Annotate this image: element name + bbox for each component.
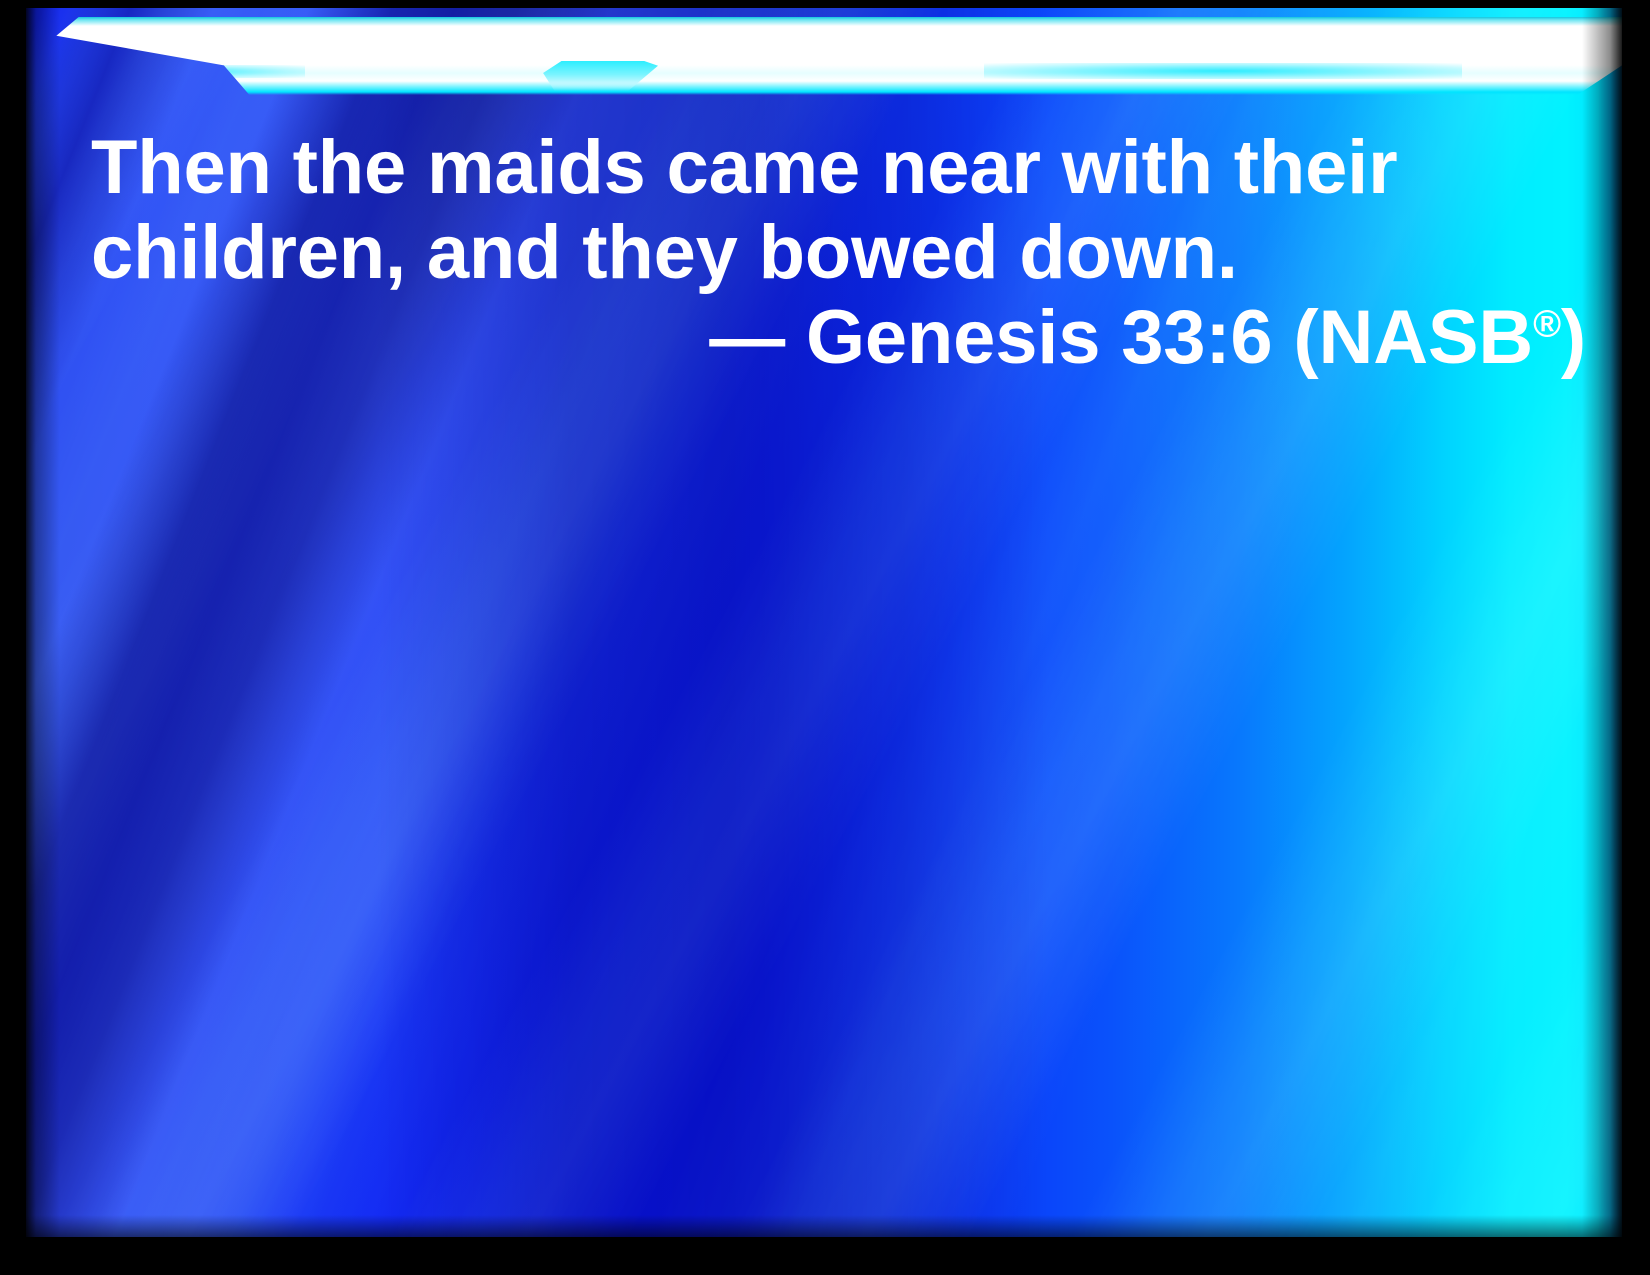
citation-suffix: ) bbox=[1561, 295, 1586, 380]
registered-trademark-icon: ® bbox=[1533, 304, 1561, 346]
verse-slide: Then the maids came near with their chil… bbox=[0, 0, 1650, 1275]
verse-line-1: Then the maids came near with their bbox=[91, 130, 1397, 206]
verse-citation: — Genesis 33:6 (NASB®) bbox=[709, 300, 1586, 376]
citation-prefix: — Genesis 33:6 (NASB bbox=[709, 295, 1533, 380]
verse-line-2: children, and they bowed down. bbox=[91, 215, 1238, 291]
slide-artwork: Then the maids came near with their chil… bbox=[26, 8, 1622, 1237]
